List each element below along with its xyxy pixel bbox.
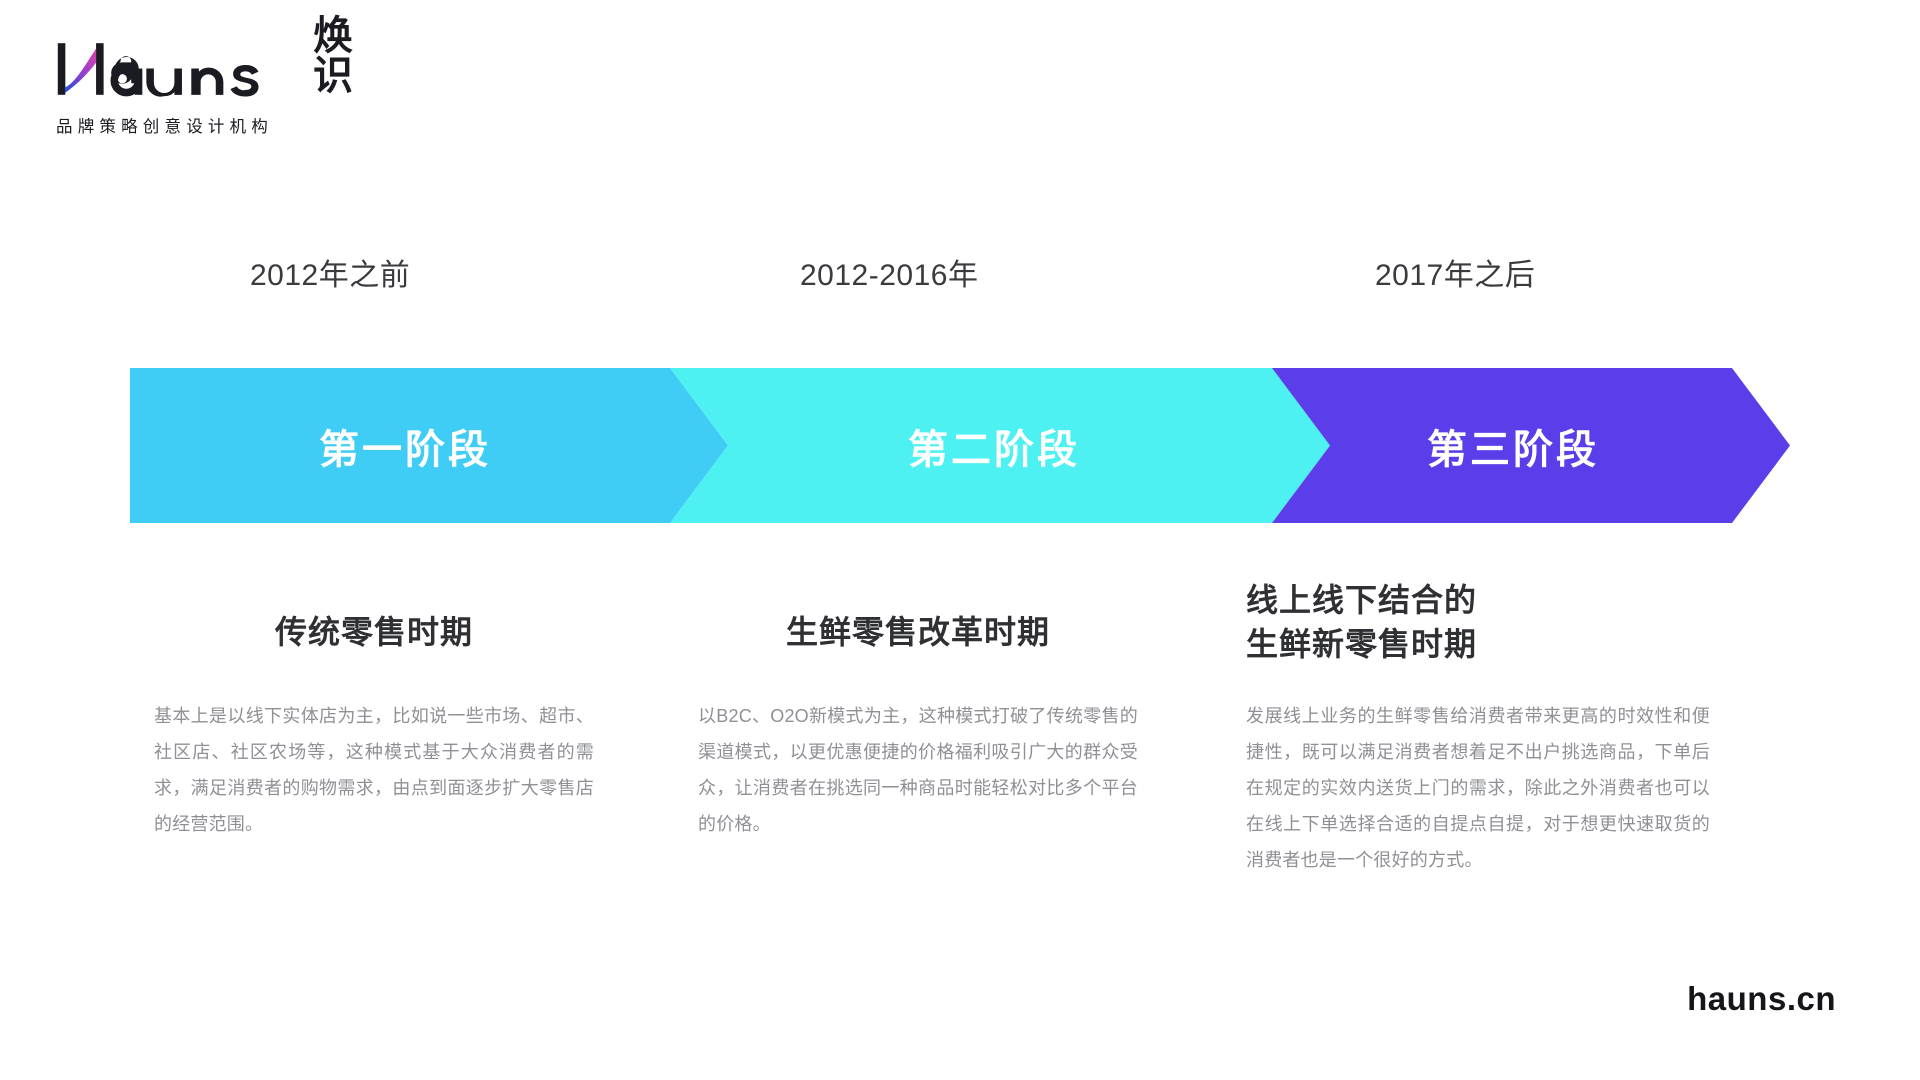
footer-website-url: hauns.cn xyxy=(1687,980,1836,1018)
retail-evolution-timeline: 2012年之前 2012-2016年 2017年之后 第一阶段 第二阶段 第三阶… xyxy=(130,250,1790,950)
stage-column-3-heading: 线上线下结合的 生鲜新零售时期 xyxy=(1240,570,1710,666)
stage-column-1-heading: 传统零售时期 xyxy=(154,570,594,654)
logo-chinese-name: 焕识 xyxy=(313,16,386,96)
hauns-logotype-icon xyxy=(56,38,307,100)
stage-column-3: 线上线下结合的 生鲜新零售时期 发展线上业务的生鲜零售给消费者带来更高的时效性和… xyxy=(1240,570,1710,878)
timeline-year-labels: 2012年之前 2012-2016年 2017年之后 xyxy=(130,250,1790,316)
stage-chevron-band: 第一阶段 第二阶段 第三阶段 xyxy=(130,368,1790,523)
stage-chevron-2-label: 第二阶段 xyxy=(908,417,1080,475)
stage-chevron-3: 第三阶段 xyxy=(1272,368,1790,523)
logo-tagline: 品牌策略创意设计机构 xyxy=(56,113,386,137)
brand-logo: 焕识 品牌策略创意设计机构 xyxy=(56,38,386,137)
stage-column-1: 传统零售时期 基本上是以线下实体店为主，比如说一些市场、超市、社区店、社区农场等… xyxy=(154,570,594,842)
stage-chevron-2: 第二阶段 xyxy=(670,368,1330,523)
stage-chevron-3-label: 第三阶段 xyxy=(1427,417,1599,475)
stage-column-2-heading: 生鲜零售改革时期 xyxy=(698,570,1138,654)
stage-column-2: 生鲜零售改革时期 以B2C、O2O新模式为主，这种模式打破了传统零售的渠道模式，… xyxy=(698,570,1138,842)
stage-column-3-body: 发展线上业务的生鲜零售给消费者带来更高的时效性和便捷性，既可以满足消费者想着足不… xyxy=(1240,698,1710,878)
stage-column-1-body: 基本上是以线下实体店为主，比如说一些市场、超市、社区店、社区农场等，这种模式基于… xyxy=(154,698,594,842)
year-label-stage-2: 2012-2016年 xyxy=(800,250,978,294)
year-label-stage-3: 2017年之后 xyxy=(1375,250,1535,294)
year-label-stage-1: 2012年之前 xyxy=(250,250,410,294)
stage-chevron-1-label: 第一阶段 xyxy=(319,417,491,475)
stage-chevron-1: 第一阶段 xyxy=(130,368,728,523)
stage-description-columns: 传统零售时期 基本上是以线下实体店为主，比如说一些市场、超市、社区店、社区农场等… xyxy=(130,570,1790,930)
stage-column-2-body: 以B2C、O2O新模式为主，这种模式打破了传统零售的渠道模式，以更优惠便捷的价格… xyxy=(698,698,1138,842)
logo-wordmark: 焕识 xyxy=(56,38,386,100)
